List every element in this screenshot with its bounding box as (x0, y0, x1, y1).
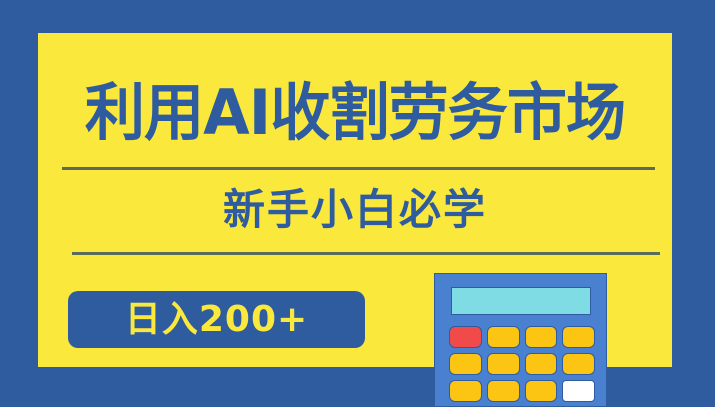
calc-key-five (487, 380, 520, 402)
calc-key-eight (487, 353, 520, 375)
calc-key-multiply (525, 326, 558, 348)
divider-below-subtitle (72, 252, 660, 255)
promo-poster: 利用AI收割劳务市场 新手小白必学 日入200+ (0, 0, 715, 407)
divider-above-subtitle (62, 167, 655, 170)
calc-key-divide (487, 326, 520, 348)
calc-key-clear (449, 326, 482, 348)
calc-key-plus (562, 353, 595, 375)
calculator-screen (451, 287, 591, 315)
calc-key-seven (449, 353, 482, 375)
calc-key-equals (562, 380, 595, 402)
poster-subtitle: 新手小白必学 (38, 185, 672, 235)
daily-income-badge: 日入200+ (68, 291, 365, 348)
calc-key-nine (525, 353, 558, 375)
calculator-illustration (434, 273, 607, 407)
calc-key-four (449, 380, 482, 402)
calc-key-minus (562, 326, 595, 348)
poster-title: 利用AI收割劳务市场 (48, 80, 663, 146)
calculator-keypad (449, 326, 595, 402)
daily-income-badge-label: 日入200+ (125, 300, 308, 340)
calc-key-six (525, 380, 558, 402)
